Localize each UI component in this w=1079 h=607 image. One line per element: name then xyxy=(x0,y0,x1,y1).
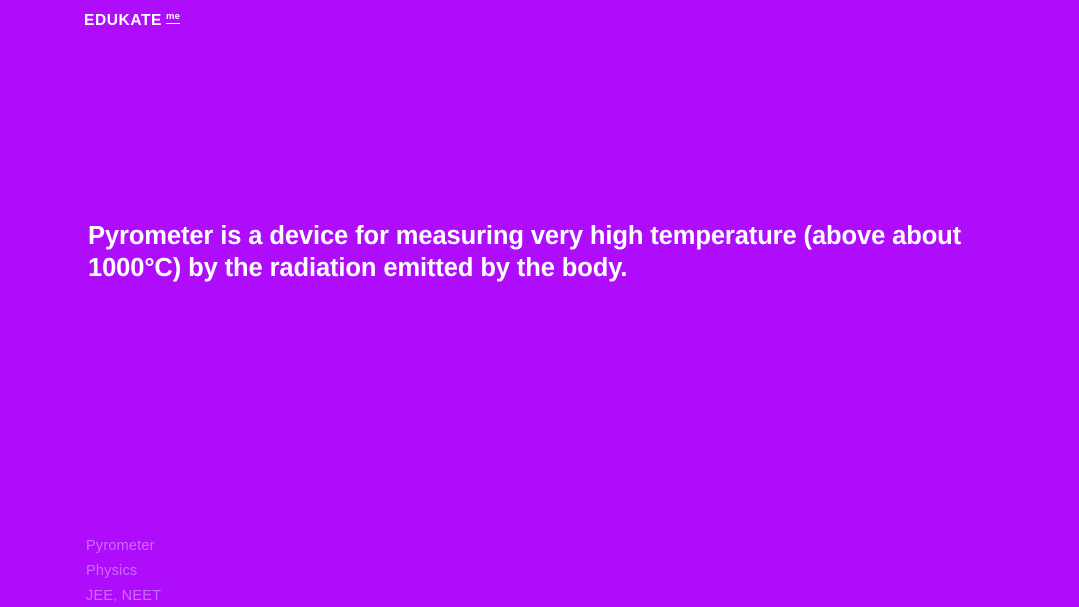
brand-logo[interactable]: EDUKATE me xyxy=(84,13,180,29)
footer-exams: JEE, NEET xyxy=(86,584,161,607)
headline-text: Pyrometer is a device for measuring very… xyxy=(88,220,988,284)
footer-topic: Pyrometer xyxy=(86,534,161,559)
footer-subject: Physics xyxy=(86,559,161,584)
slide-canvas: EDUKATE me Pyrometer is a device for mea… xyxy=(0,0,1079,607)
brand-superscript: me xyxy=(166,12,180,24)
footer-meta: Pyrometer Physics JEE, NEET xyxy=(86,534,161,607)
brand-name: EDUKATE xyxy=(84,13,162,29)
